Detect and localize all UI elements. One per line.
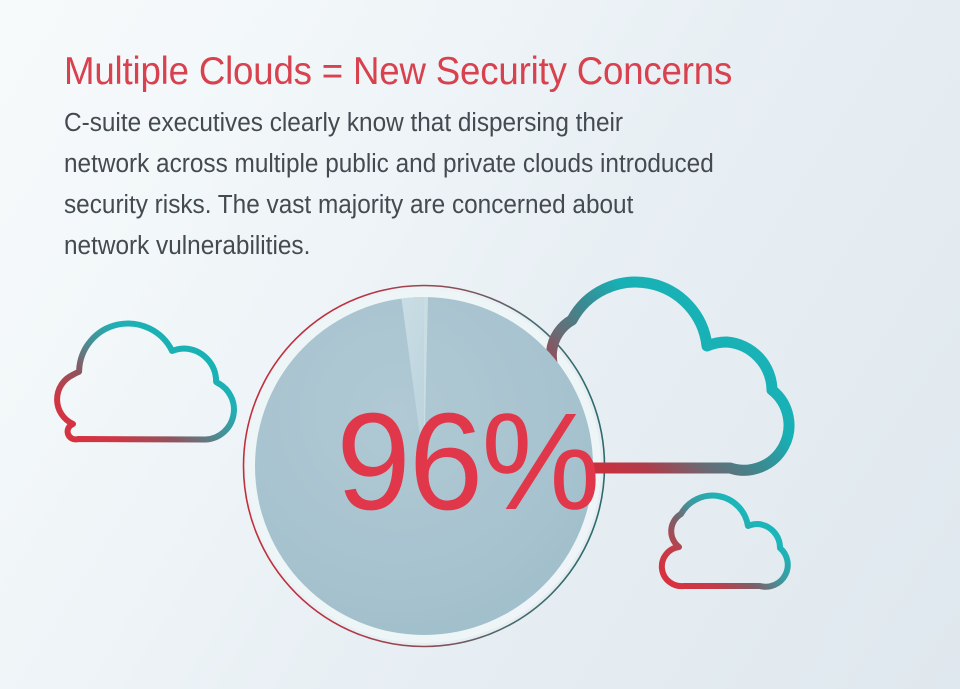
body-copy: C-suite executives clearly know that dis… [64, 103, 818, 267]
cloud-right-small-icon [662, 496, 788, 587]
body-line-3: security risks. The vast majority are co… [64, 185, 818, 226]
cloud-left-icon [57, 324, 234, 440]
body-line-2: network across multiple public and priva… [64, 144, 818, 185]
infographic-canvas: Multiple Clouds = New Security Concerns … [0, 0, 960, 689]
body-line-1: C-suite executives clearly know that dis… [64, 103, 818, 144]
body-line-4: network vulnerabilities. [64, 226, 818, 267]
page-title: Multiple Clouds = New Security Concerns [64, 50, 807, 94]
text-block: Multiple Clouds = New Security Concerns … [64, 50, 854, 267]
